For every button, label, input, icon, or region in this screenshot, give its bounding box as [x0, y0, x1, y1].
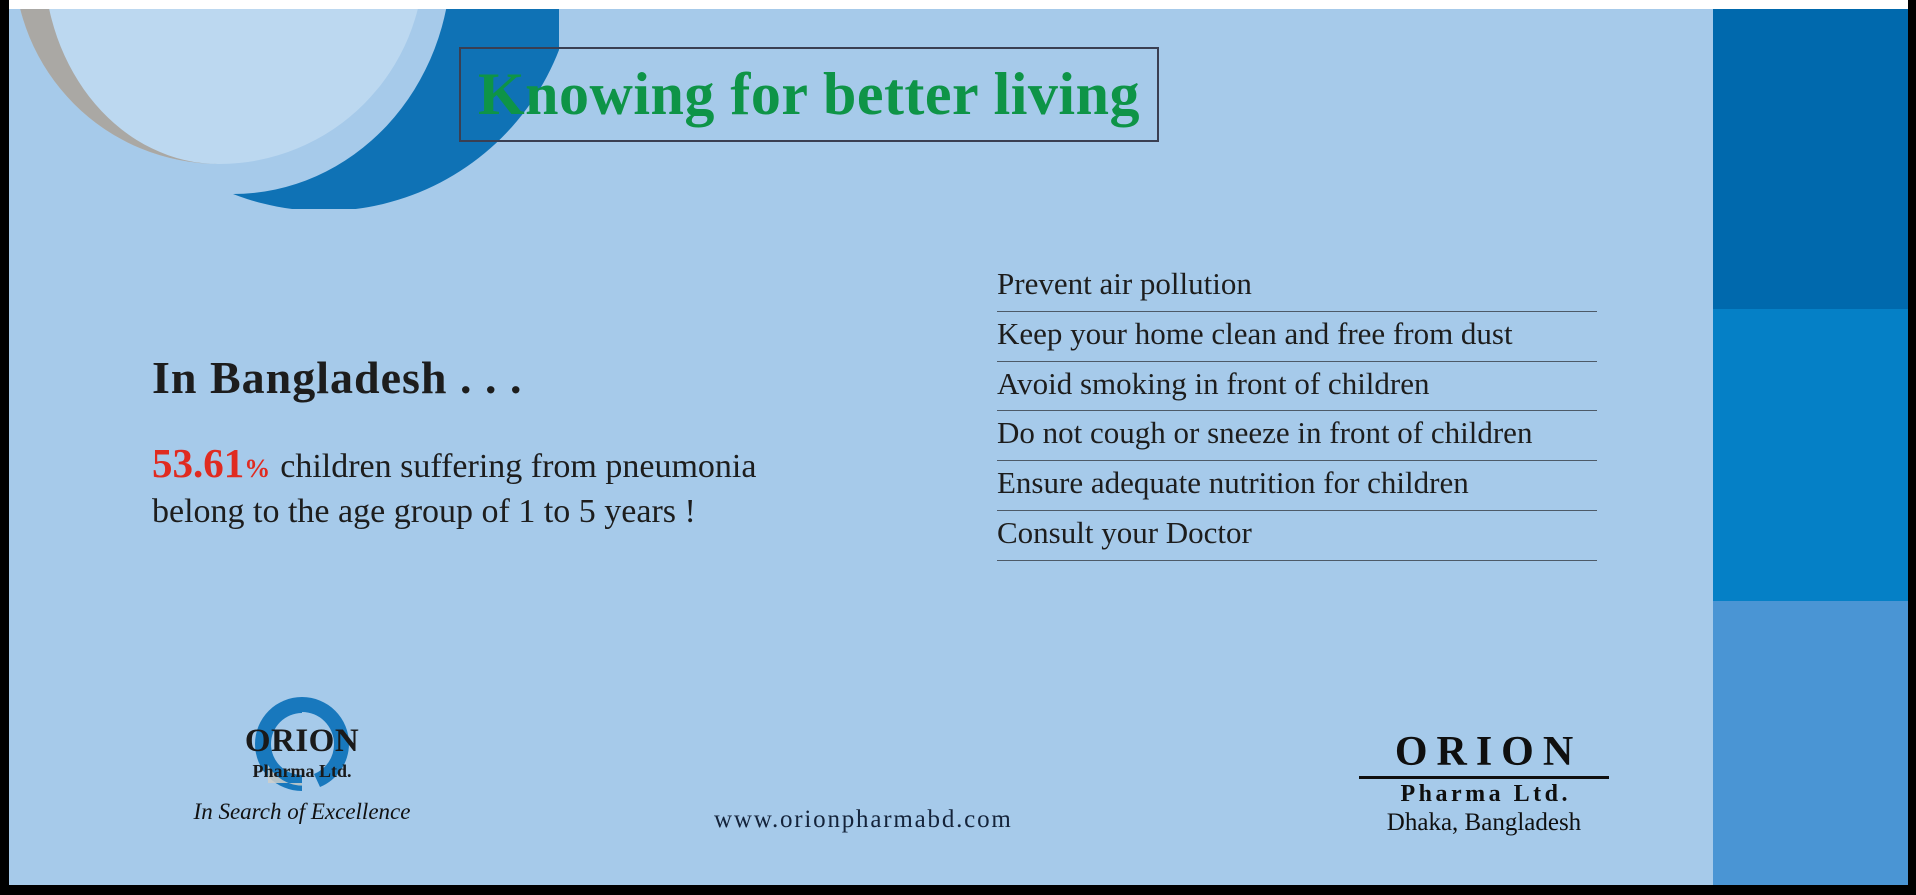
orion-logo-subtitle: Pharma Ltd.: [1359, 782, 1609, 807]
statistic-heading: In Bangladesh . . .: [152, 351, 832, 404]
side-bar-light-blue: [1713, 601, 1908, 885]
orion-name: ORION: [157, 725, 447, 758]
poster-canvas: Knowing for better living In Bangladesh …: [9, 9, 1908, 885]
orion-text-logo: ORION Pharma Ltd. Dhaka, Bangladesh: [1359, 731, 1609, 838]
statistic-percent-sign: %: [244, 454, 270, 483]
orion-logo-name: ORION: [1359, 731, 1609, 774]
advice-list-item: Prevent air pollution: [997, 262, 1597, 312]
page-title: Knowing for better living: [478, 60, 1140, 129]
swoosh-pale-disc: [14, 9, 424, 164]
orion-subtitle: Pharma Ltd.: [157, 762, 447, 780]
orion-circular-logo: ORION Pharma Ltd. In Search of Excellenc…: [157, 691, 447, 831]
orion-tagline: In Search of Excellence: [157, 799, 447, 825]
orion-wordmark: ORION Pharma Ltd.: [157, 725, 447, 780]
advice-list-item: Consult your Doctor: [997, 511, 1597, 561]
advice-list: Prevent air pollution Keep your home cle…: [997, 262, 1597, 561]
statistic-percent-value: 53.61: [152, 440, 244, 486]
statistic-line1-rest: children suffering from pneumonia: [270, 448, 756, 485]
frame-bottom-edge: [0, 885, 1916, 895]
swoosh-gray-crescent: [14, 9, 219, 164]
statistic-body: 53.61%children suffering from pneumonia …: [152, 436, 832, 535]
frame-left-edge: [0, 0, 9, 895]
advice-list-item: Ensure adequate nutrition for children: [997, 461, 1597, 511]
side-bar-dark-blue: [1713, 9, 1908, 309]
poster-slide: Knowing for better living In Bangladesh …: [0, 0, 1916, 895]
frame-right-edge: [1908, 0, 1916, 895]
top-white-strip: [0, 0, 1916, 9]
advice-list-item: Do not cough or sneeze in front of child…: [997, 411, 1597, 461]
statistic-line2: belong to the age group of 1 to 5 years …: [152, 493, 696, 530]
orion-logo-rule: [1359, 776, 1609, 779]
advice-list-item: Keep your home clean and free from dust: [997, 312, 1597, 362]
orion-logo-location: Dhaka, Bangladesh: [1359, 808, 1609, 838]
side-bar-mid-blue: [1713, 309, 1908, 601]
title-box: Knowing for better living: [459, 47, 1159, 142]
website-url[interactable]: www.orionpharmabd.com: [714, 806, 1013, 834]
statistic-block: In Bangladesh . . . 53.61%children suffe…: [152, 351, 832, 535]
advice-list-item: Avoid smoking in front of children: [997, 362, 1597, 412]
